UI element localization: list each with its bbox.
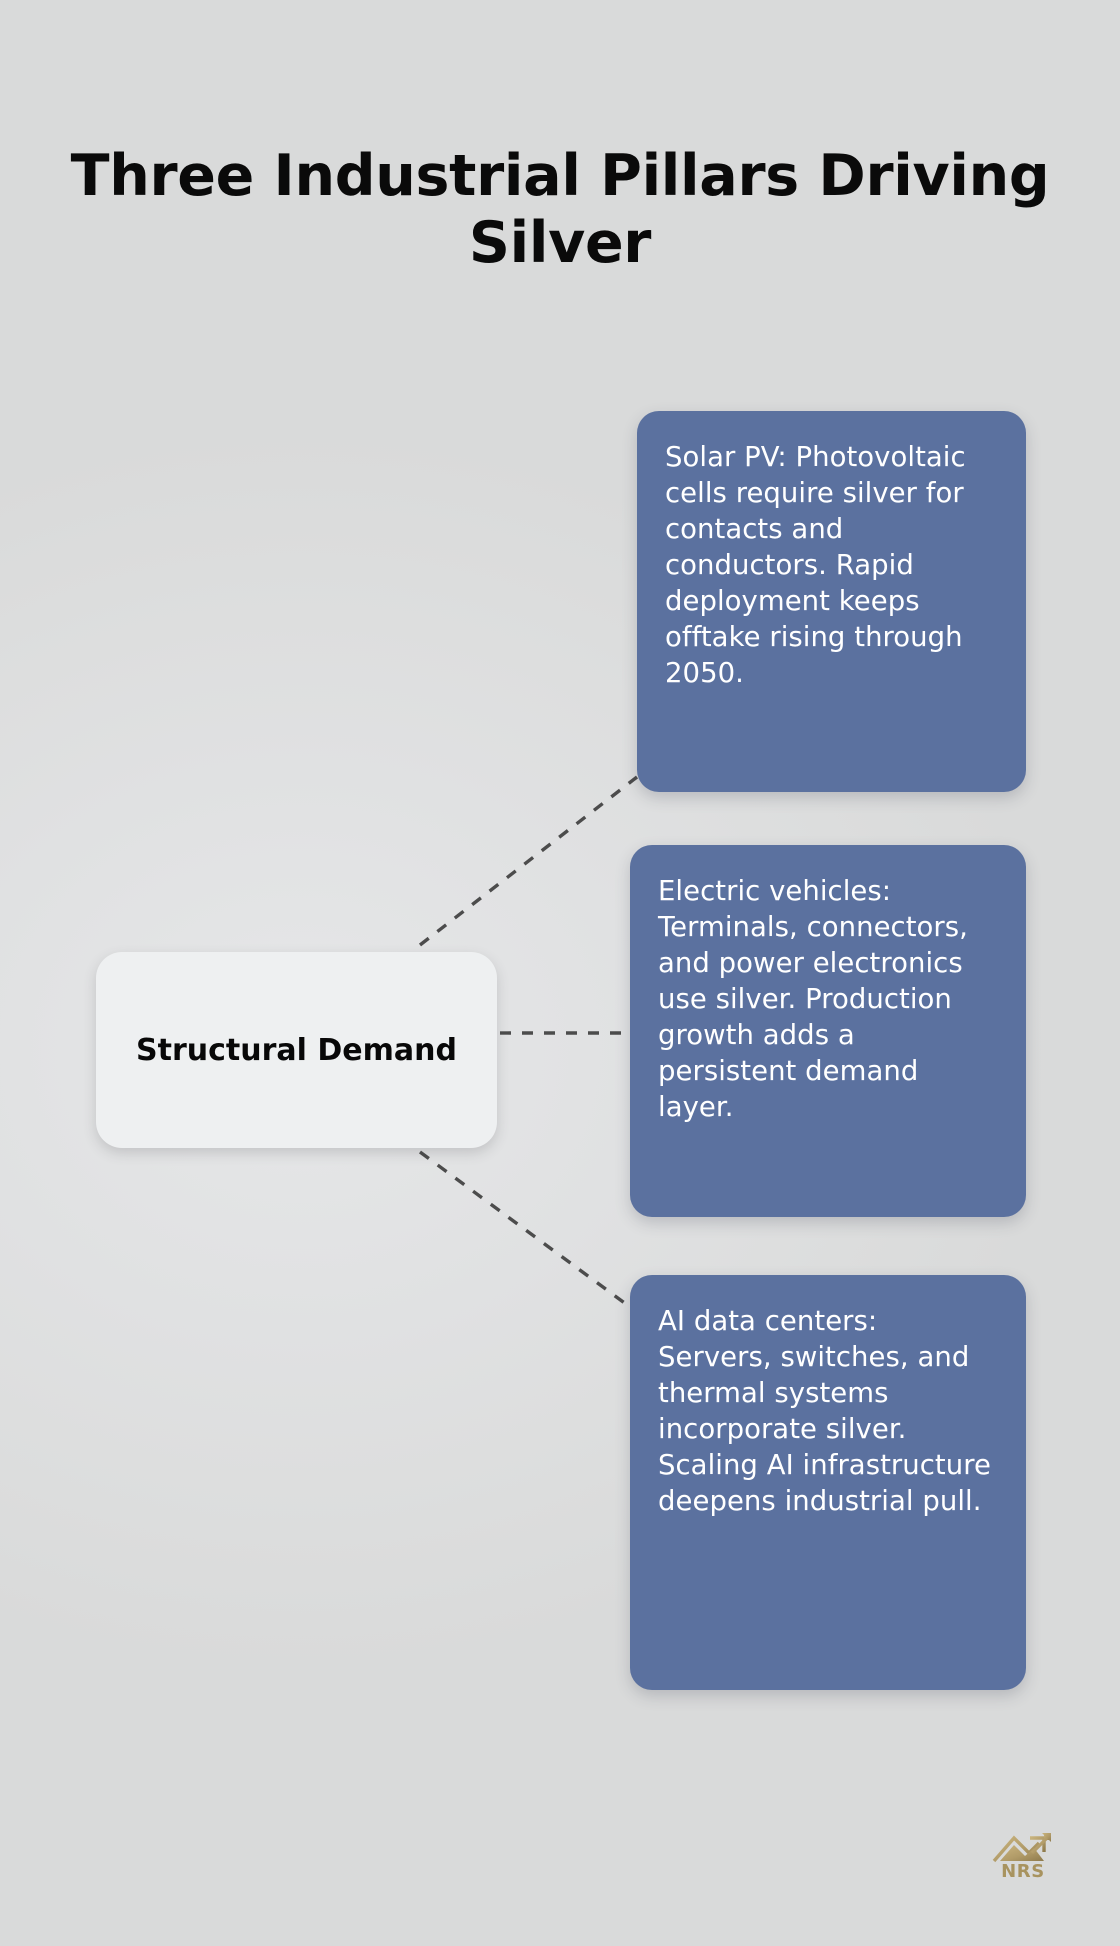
branch-card-ai-data-centers[interactable]: AI data centers: Servers, switches, and … [630,1275,1026,1690]
branch-card-text: AI data centers: Servers, switches, and … [658,1303,992,1519]
center-node-label: Structural Demand [114,1031,479,1070]
infographic-canvas: Three Industrial Pillars Driving Silver … [0,0,1120,1946]
branch-card-electric-vehicles[interactable]: Electric vehicles: Terminals, connectors… [630,845,1026,1217]
branch-card-text: Solar PV: Photovoltaic cells require sil… [665,439,992,691]
connector-line-solar-pv [420,777,637,945]
center-node-structural-demand[interactable]: Structural Demand [96,952,497,1148]
mountain-arrow-icon [992,1828,1054,1864]
branch-card-solar-pv[interactable]: Solar PV: Photovoltaic cells require sil… [637,411,1026,792]
logo-text: NRS [992,1861,1054,1882]
connector-line-ai-data-centers [420,1152,630,1307]
branch-card-text: Electric vehicles: Terminals, connectors… [658,873,992,1125]
nrs-logo: NRS [992,1828,1054,1884]
